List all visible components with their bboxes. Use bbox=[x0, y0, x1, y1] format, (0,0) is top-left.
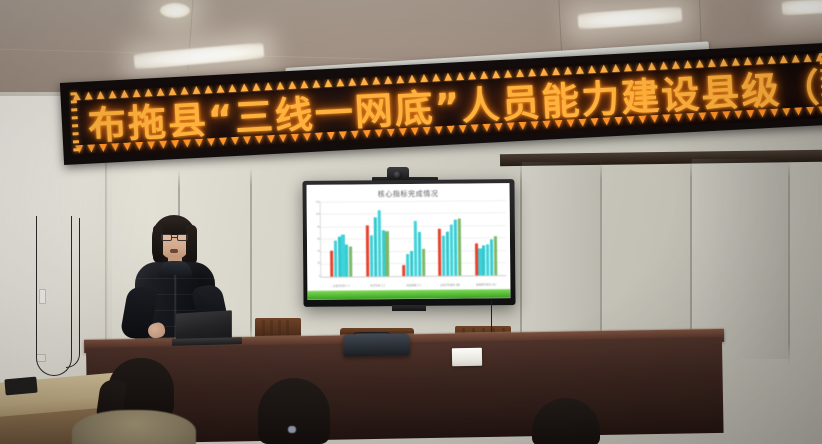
glasses-lens-right bbox=[177, 234, 188, 241]
hair-tie bbox=[288, 426, 296, 433]
chart-bar bbox=[454, 219, 458, 275]
chart-bar bbox=[402, 265, 405, 276]
chart-bar bbox=[370, 235, 373, 276]
chart-bar bbox=[414, 221, 418, 276]
bar-chart: 核心指标完成情况 120100806040200 乡镇卫生院 (一)村卫生室 (… bbox=[306, 183, 510, 300]
presenter-hair-right bbox=[186, 225, 197, 265]
chart-bar bbox=[338, 237, 341, 277]
slide-footer-band bbox=[307, 289, 510, 300]
chart-bar bbox=[475, 243, 478, 276]
chart-bar bbox=[366, 225, 370, 276]
display-screen: 核心指标完成情况 120100806040200 乡镇卫生院 (一)村卫生室 (… bbox=[306, 183, 510, 300]
audience-member-center bbox=[250, 378, 340, 444]
chart-bar bbox=[494, 236, 497, 275]
desk-object bbox=[4, 377, 37, 396]
presenter-hair-left bbox=[153, 225, 163, 263]
chart-category-label: 公共卫生服务 (四) bbox=[440, 283, 460, 287]
chart-bar bbox=[334, 240, 337, 276]
chart-bar bbox=[377, 211, 381, 277]
chart-bar bbox=[442, 236, 445, 276]
wall-panel-shade bbox=[522, 162, 600, 352]
chart-category-label: 乡镇卫生院 (一) bbox=[333, 284, 350, 288]
chart-bar bbox=[418, 232, 421, 276]
wall-mounted-display: 核心指标完成情况 120100806040200 乡镇卫生院 (一)村卫生室 (… bbox=[302, 179, 515, 307]
chart-bar-group: 公共卫生服务 (四) bbox=[438, 201, 461, 276]
chart-bar bbox=[486, 244, 489, 275]
camera-lens-icon bbox=[393, 171, 402, 179]
wall-panel-seam bbox=[600, 160, 602, 356]
chart-bar bbox=[490, 239, 493, 275]
chart-bar bbox=[406, 253, 409, 276]
display-stand bbox=[392, 305, 426, 311]
audience-member-right bbox=[528, 398, 608, 444]
audience-member-left bbox=[78, 358, 208, 444]
chart-bar-group: 家庭医生签约 (五) bbox=[474, 200, 497, 275]
chart-bar bbox=[478, 248, 481, 276]
dark-shoulder-bag bbox=[343, 333, 410, 356]
hanging-av-cable-tail bbox=[66, 218, 80, 368]
tissue-box bbox=[452, 348, 482, 367]
fur-collar bbox=[72, 410, 196, 444]
round-downlight bbox=[160, 3, 190, 18]
chart-bar bbox=[482, 245, 485, 275]
chart-plot-area: 乡镇卫生院 (一)村卫生室 (二)妇幼保健 (三)公共卫生服务 (四)家庭医生签… bbox=[320, 200, 507, 278]
chart-bar bbox=[349, 246, 352, 276]
chart-bar bbox=[374, 217, 378, 276]
chart-bar bbox=[446, 232, 449, 276]
conference-room-photo: 布拖县“三线一网底”人员能力建设县级（第二期） 核心指标完成情况 1201008… bbox=[0, 0, 822, 444]
panel-light-far-right bbox=[782, 0, 822, 15]
chart-bar bbox=[341, 234, 344, 277]
presenter-mouth bbox=[170, 249, 178, 253]
chart-bar bbox=[422, 248, 425, 276]
video-conference-camera bbox=[387, 167, 409, 181]
chart-category-label: 家庭医生签约 (五) bbox=[476, 282, 496, 286]
chart-title: 核心指标完成情况 bbox=[311, 188, 506, 200]
chart-bar-group: 村卫生室 (二) bbox=[366, 201, 389, 276]
chart-category-label: 村卫生室 (二) bbox=[370, 283, 385, 287]
wall-panel-seam bbox=[250, 168, 252, 344]
chart-bar-group: 乡镇卫生院 (一) bbox=[329, 201, 352, 276]
chart-bar bbox=[345, 244, 348, 277]
glasses-icon bbox=[161, 234, 188, 241]
chart-category-label: 妇幼保健 (三) bbox=[406, 283, 421, 287]
chart-bar-group: 妇幼保健 (三) bbox=[402, 201, 425, 276]
chart-bar bbox=[385, 231, 388, 276]
wall-panel-seam bbox=[788, 158, 790, 364]
glasses-lens-left bbox=[161, 234, 172, 241]
chart-bar bbox=[330, 250, 333, 276]
audience-hair bbox=[258, 378, 330, 444]
chart-bar bbox=[458, 218, 462, 276]
chart-bar bbox=[410, 251, 413, 276]
audience-hair bbox=[532, 398, 600, 444]
